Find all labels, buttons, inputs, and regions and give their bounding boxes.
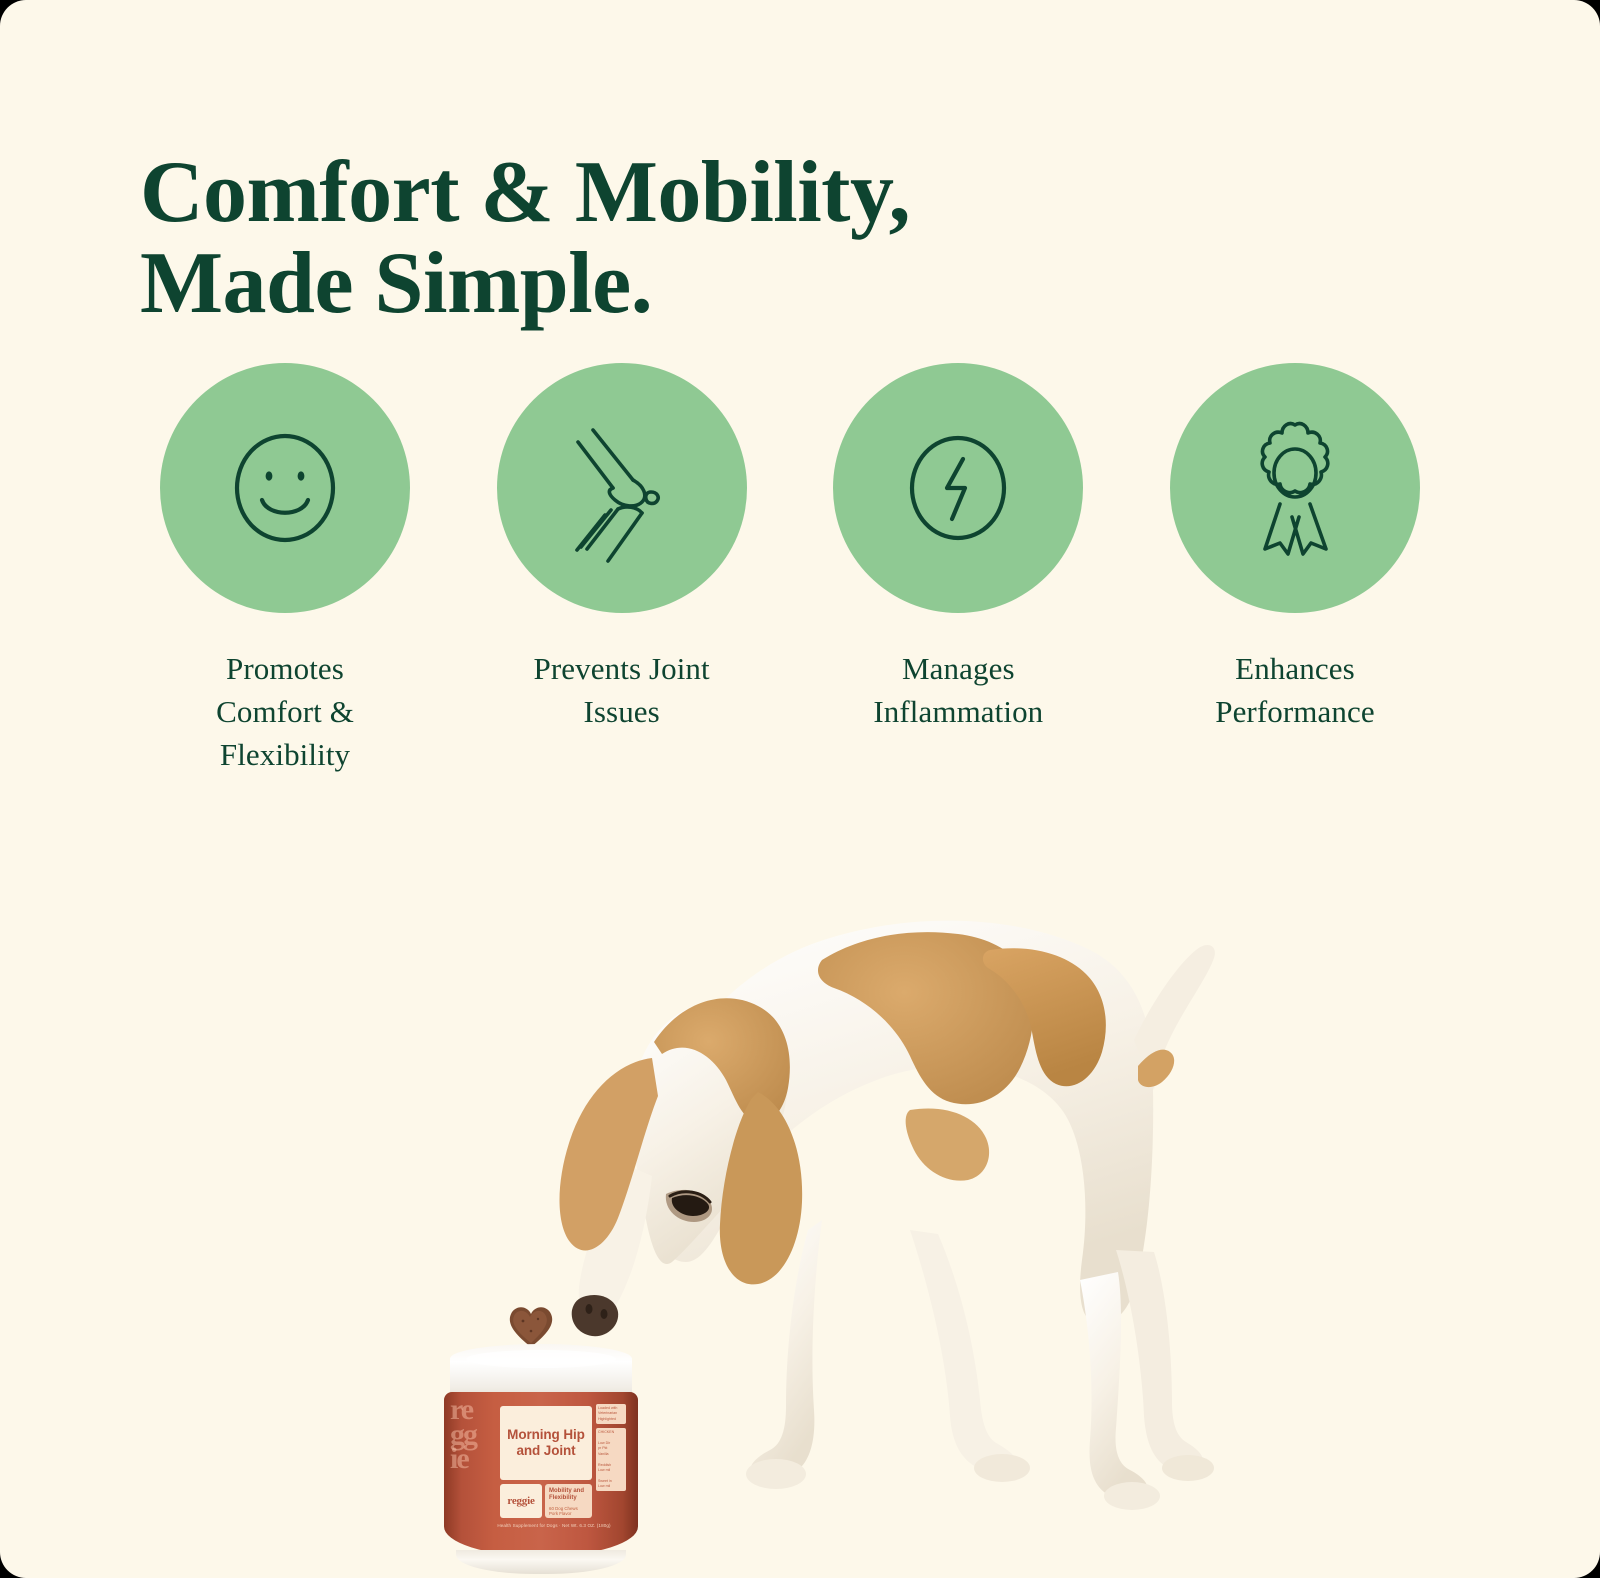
benefit-icon-circle [833, 363, 1083, 613]
jar-side-block: Loaded with Veterinarian Highlighted [596, 1404, 626, 1424]
benefit-label: Prevents Joint Issues [534, 648, 710, 734]
jar-title-panel: Morning Hip and Joint [500, 1406, 592, 1480]
benefit-item-enhances-performance: Enhances Performance [1150, 363, 1440, 734]
benefit-icon-circle [497, 363, 747, 613]
benefit-label: Manages Inflammation [873, 648, 1043, 734]
jar-subtitle: Mobility and Flexibility [549, 1488, 589, 1503]
benefit-item-prevents-joint-issues: Prevents Joint Issues [477, 363, 767, 734]
benefit-item-manages-inflammation: Manages Inflammation [813, 363, 1103, 734]
benefit-icon-circle [1170, 363, 1420, 613]
jar-body: re gg ie Morning Hip and Joint reggie Mo… [444, 1392, 638, 1556]
smiley-face-icon [221, 424, 349, 552]
benefit-label: Enhances Performance [1215, 648, 1374, 734]
benefits-row: Promotes Comfort & Flexibility [140, 363, 1440, 776]
product-jar[interactable]: re gg ie Morning Hip and Joint reggie Mo… [442, 1344, 640, 1572]
jar-base [456, 1550, 626, 1574]
lightning-bolt-circle-icon [893, 423, 1023, 553]
dog-chew-treat-icon [505, 1303, 557, 1349]
hero-photo: re gg ie Morning Hip and Joint reggie Mo… [0, 800, 1600, 1578]
promo-card: Comfort & Mobility, Made Simple. Promote… [0, 0, 1600, 1578]
jar-side-text: Loaded with Veterinarian Highlighted [598, 1406, 624, 1422]
jar-product-title: Morning Hip and Joint [507, 1427, 585, 1460]
jar-brand-badge: reggie [500, 1484, 542, 1518]
jar-details: 60 Dog Chews Pork Flavor [549, 1506, 589, 1517]
award-ribbon-icon [1225, 413, 1365, 563]
benefit-icon-circle [160, 363, 410, 613]
jar-side-text: CHICKEN Low Dir pr Pkt Vanilla Reddish L… [598, 1430, 624, 1489]
benefit-label: Promotes Comfort & Flexibility [216, 648, 354, 776]
knee-joint-bone-icon [547, 408, 697, 568]
jar-side-panel: Loaded with Veterinarian Highlighted CHI… [596, 1404, 626, 1522]
page-title: Comfort & Mobility, Made Simple. [140, 147, 1140, 330]
jar-side-block: CHICKEN Low Dir pr Pkt Vanilla Reddish L… [596, 1428, 626, 1491]
jar-details-panel: Mobility and Flexibility 60 Dog Chews Po… [545, 1484, 592, 1518]
jar-brand-name: reggie [507, 1495, 534, 1507]
benefit-item-promotes-comfort: Promotes Comfort & Flexibility [140, 363, 430, 776]
jar-net-weight: Health Supplement for Dogs · Net Wt. 6.3… [492, 1523, 616, 1528]
